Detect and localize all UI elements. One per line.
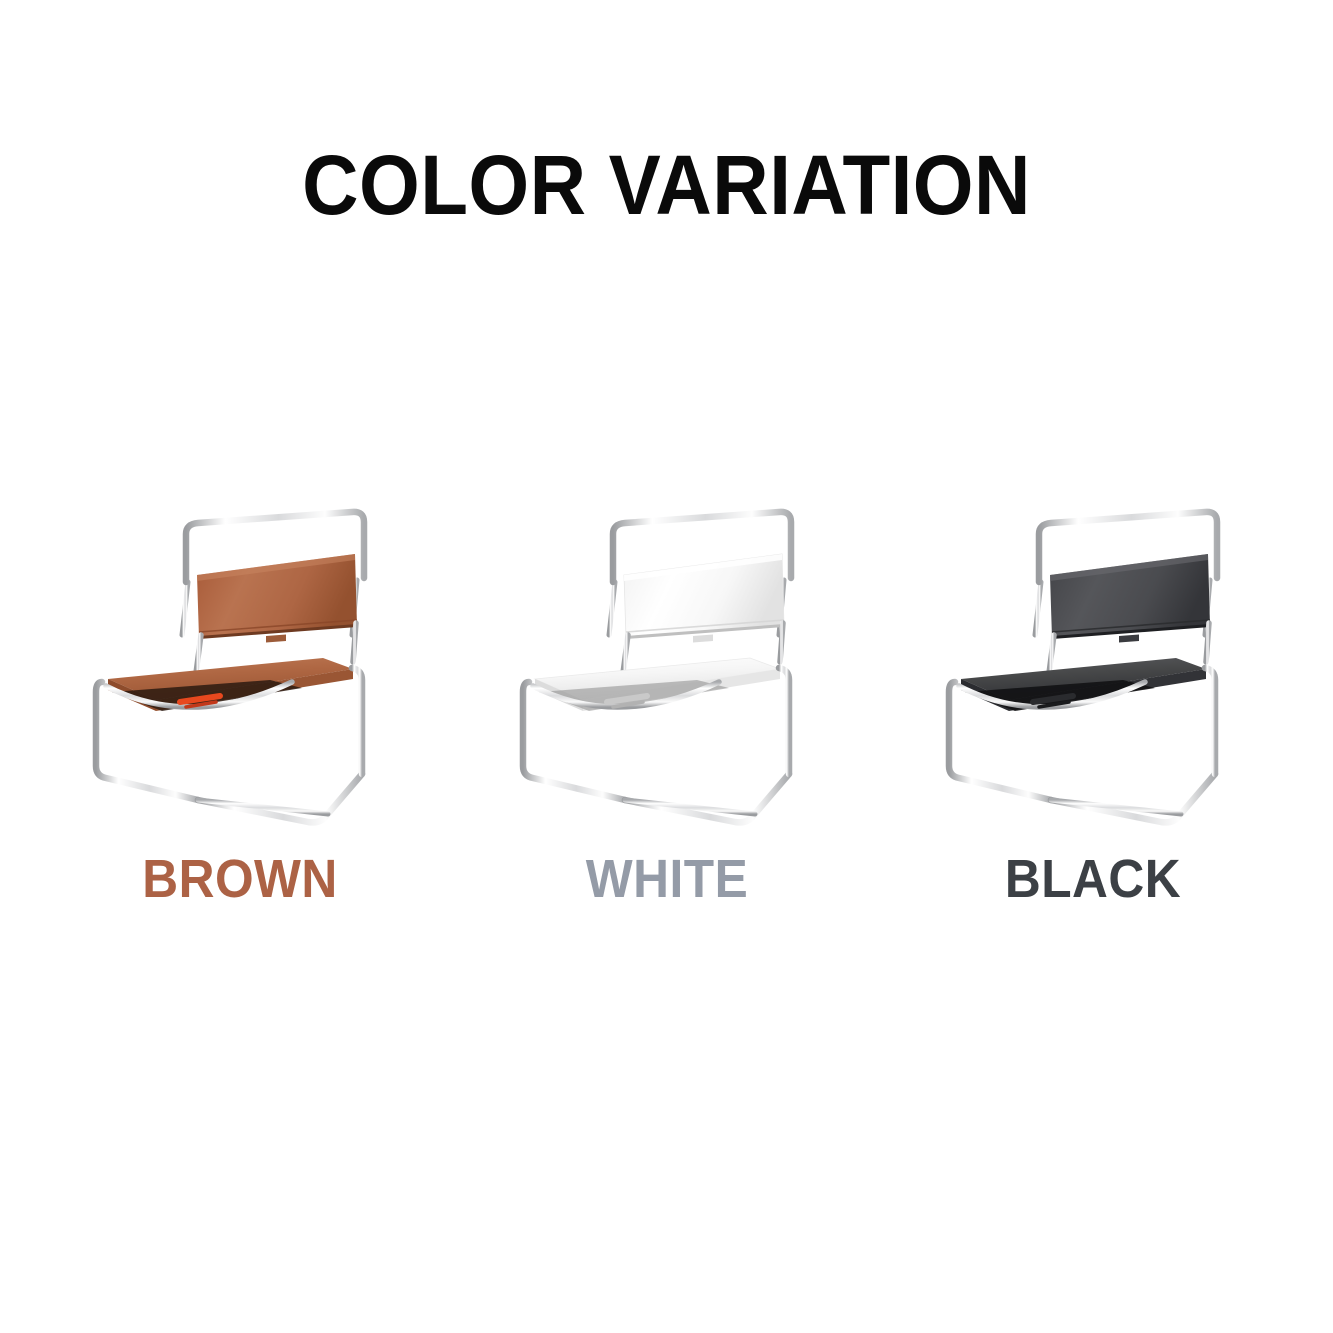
rear-leg-right — [779, 668, 789, 774]
color-variation-page: COLOR VARIATION — [0, 0, 1333, 1333]
variation-row: BROWN — [0, 430, 1333, 930]
variation-label-brown: BROWN — [56, 850, 424, 908]
chair-image-white — [497, 430, 837, 830]
base-runner-right — [198, 774, 362, 822]
rear-leg-right — [1205, 668, 1215, 774]
variation-item-white[interactable]: WHITE — [467, 430, 867, 930]
base-runner-right — [625, 774, 789, 822]
base-runner-right — [1051, 774, 1215, 822]
variation-item-brown[interactable]: BROWN — [40, 430, 440, 930]
chair-image-brown — [70, 430, 410, 830]
page-title: COLOR VARIATION — [47, 140, 1287, 230]
chair-illustration — [923, 430, 1263, 830]
chair-illustration — [70, 430, 410, 830]
variation-label-white: WHITE — [483, 850, 851, 908]
rear-leg-right — [352, 668, 362, 774]
variation-label-black: BLACK — [909, 850, 1277, 908]
chair-illustration — [497, 430, 837, 830]
chair-image-black — [923, 430, 1263, 830]
variation-item-black[interactable]: BLACK — [893, 430, 1293, 930]
